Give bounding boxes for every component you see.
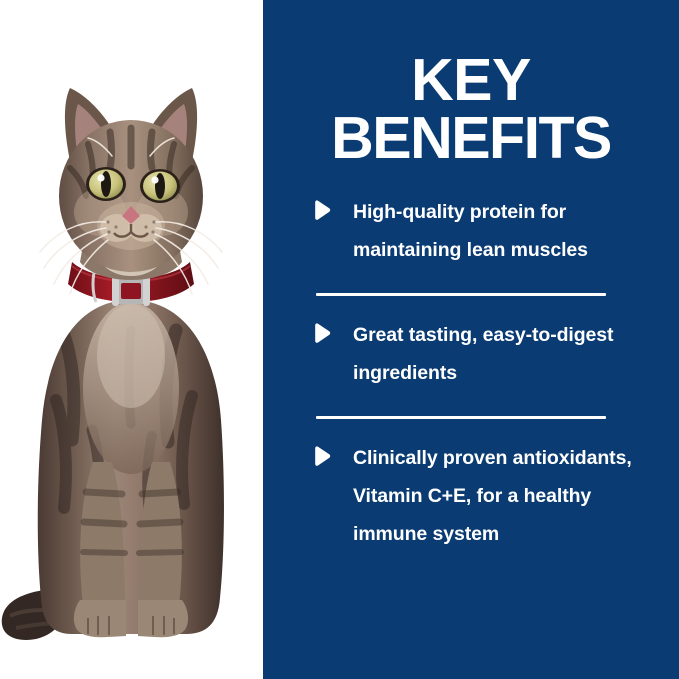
play-triangle-icon: [310, 199, 333, 222]
play-triangle-icon: [310, 445, 333, 468]
benefit-item: Clinically proven antioxidants, Vitamin …: [310, 439, 655, 553]
cat-illustration: [0, 0, 263, 679]
cat-photo-pane: [0, 0, 263, 679]
benefit-item: Great tasting, easy-to-digest ingredient…: [310, 316, 655, 392]
benefits-list: High-quality protein for maintaining lea…: [310, 193, 655, 553]
benefit-text: Clinically proven antioxidants, Vitamin …: [353, 439, 653, 553]
play-triangle-icon: [310, 322, 333, 345]
benefit-item: High-quality protein for maintaining lea…: [310, 193, 655, 269]
cat-photo: [0, 0, 263, 679]
page-title-line-2: BENEFITS: [263, 110, 679, 168]
page-title: KEY BENEFITS: [263, 52, 679, 168]
key-benefits-panel: KEY BENEFITS High-quality protein for ma…: [0, 0, 679, 679]
benefit-divider: [316, 416, 606, 419]
benefit-divider: [316, 293, 606, 296]
benefit-text: Great tasting, easy-to-digest ingredient…: [353, 316, 653, 392]
page-title-line-1: KEY: [411, 47, 531, 113]
benefits-pane: KEY BENEFITS High-quality protein for ma…: [263, 0, 679, 679]
benefit-text: High-quality protein for maintaining lea…: [353, 193, 653, 269]
